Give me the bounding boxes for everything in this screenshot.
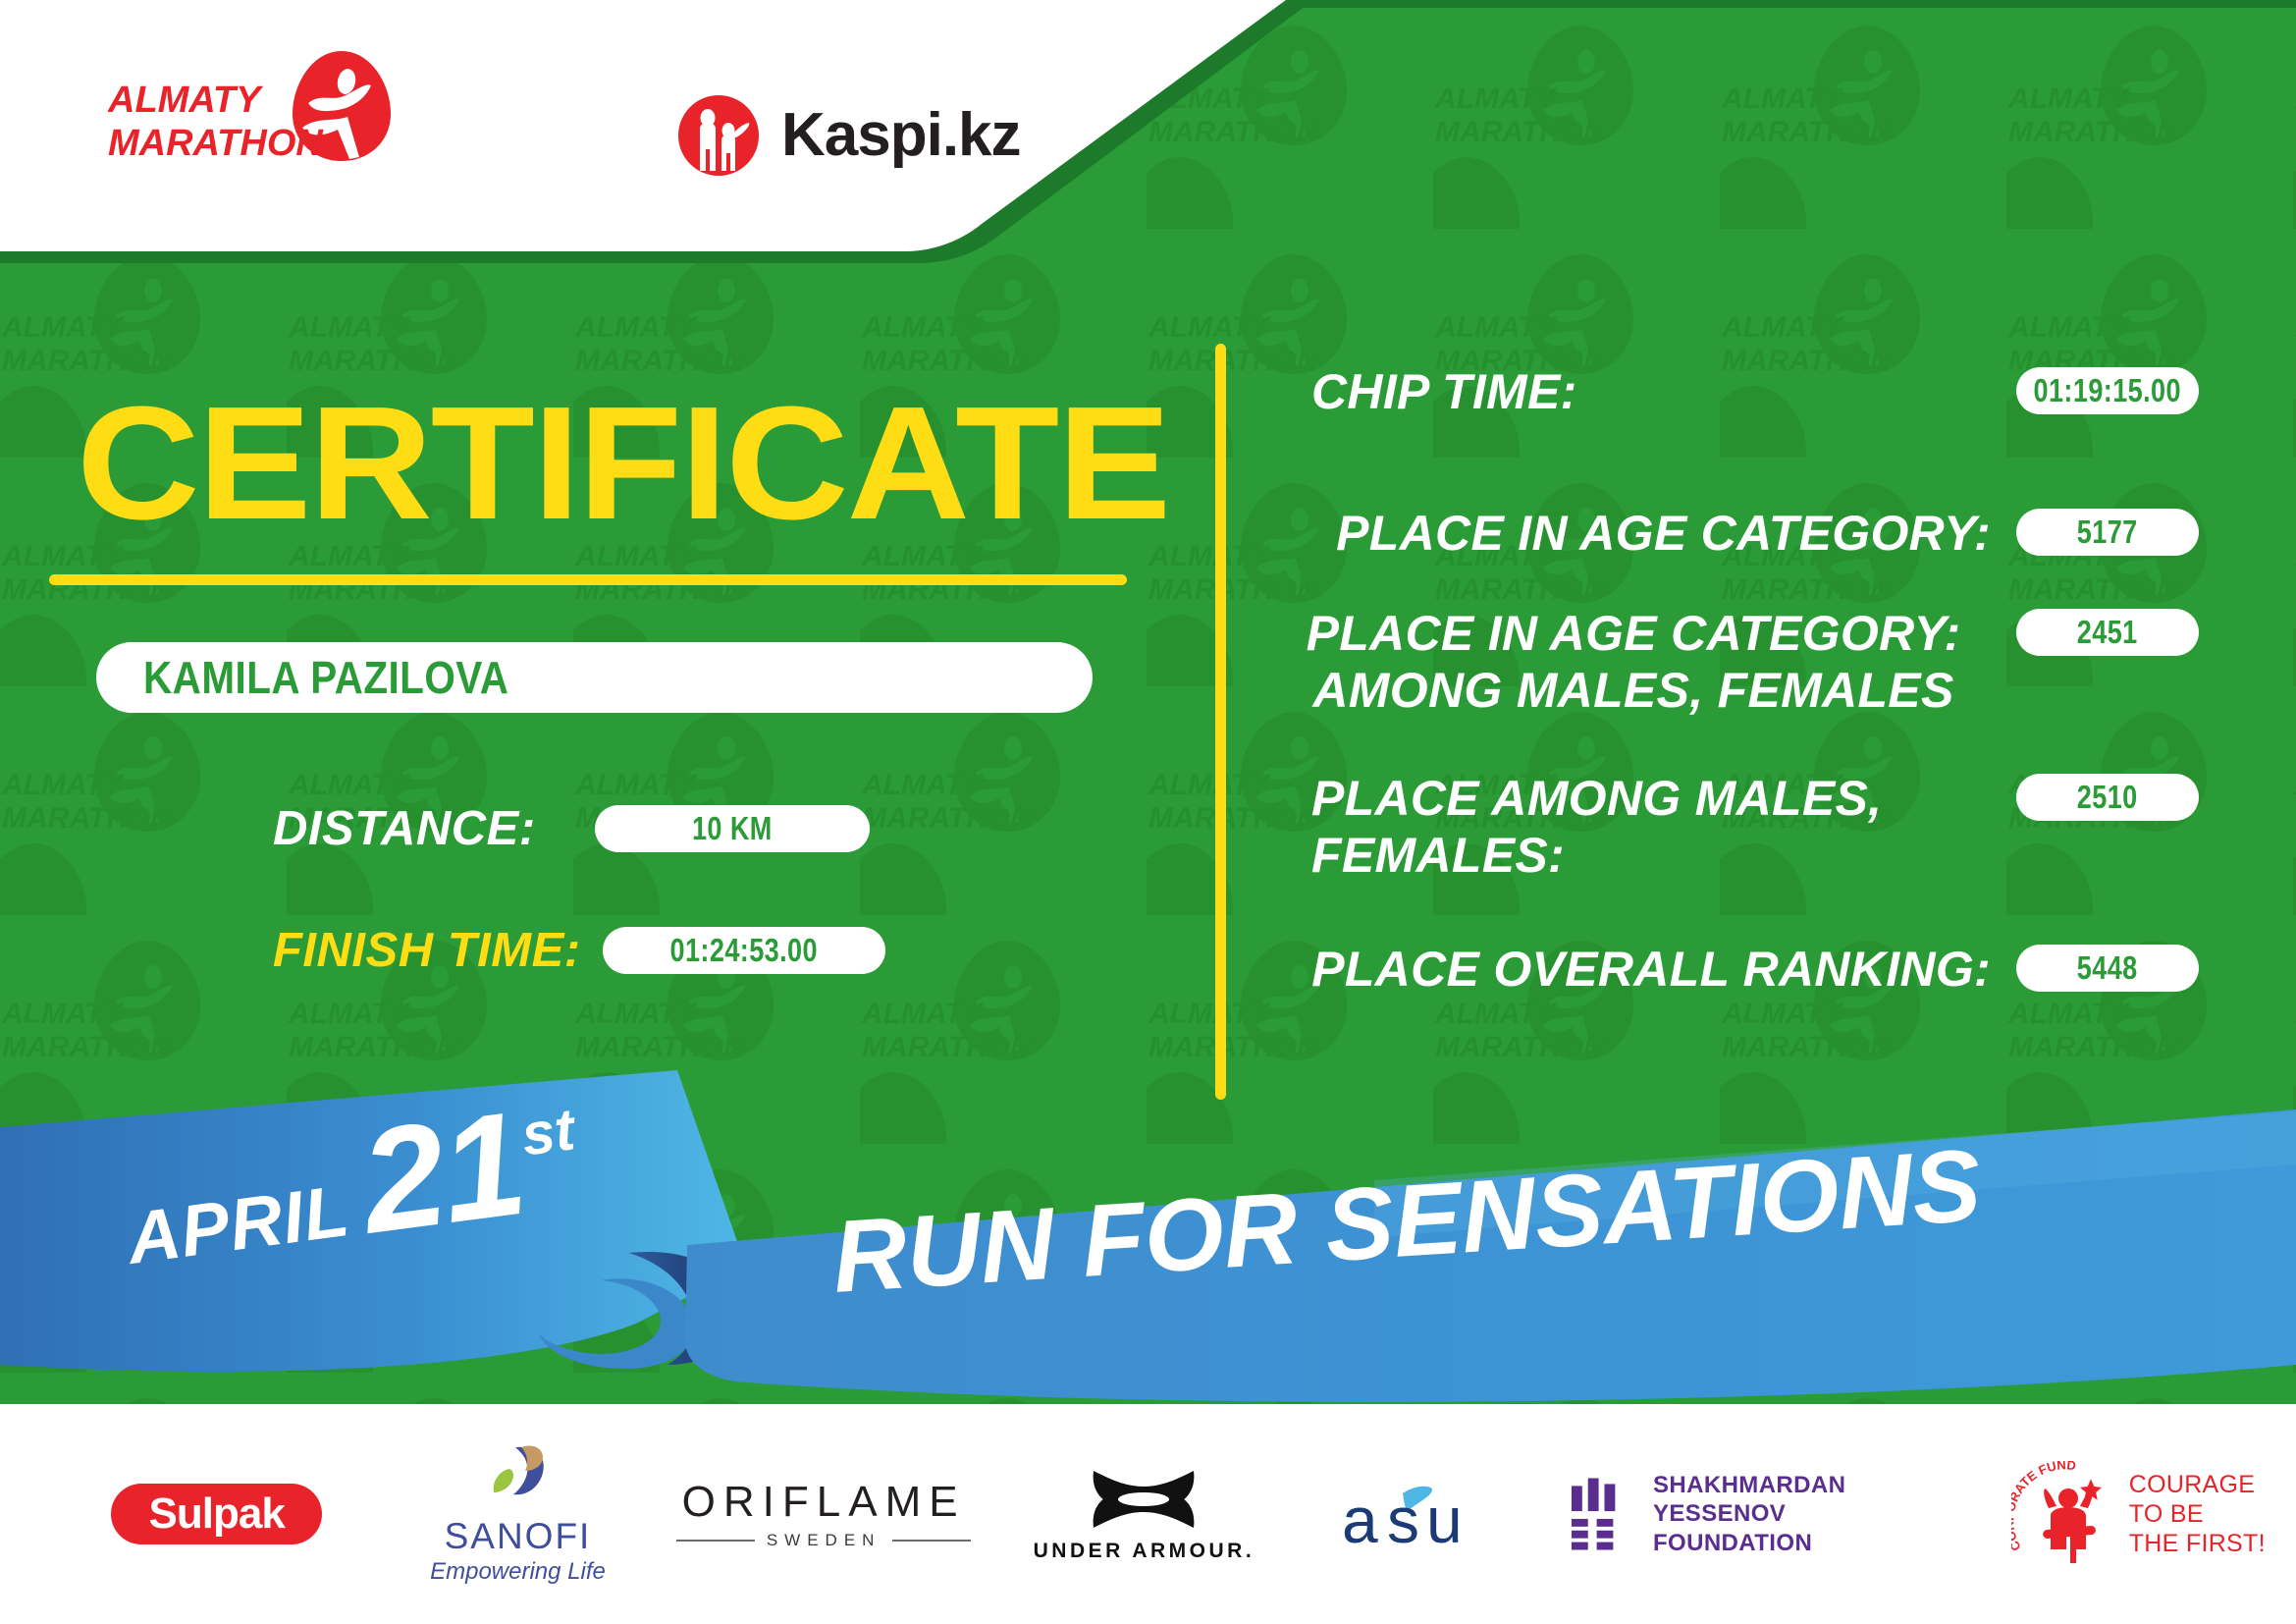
sponsor-logo-sulpak: Sulpak <box>59 1484 374 1544</box>
finish-time-value: 01:24:53.00 <box>669 932 817 969</box>
sponsor-strip: Sulpak SANOFI Empowering Life ORIFLAME S… <box>0 1404 2296 1624</box>
distance-label: DISTANCE: <box>273 801 536 856</box>
sponsor-logo-shakhmardan-yessenov-foundation: SHAKHMARDAN YESSENOV FOUNDATION <box>1570 1471 1981 1557</box>
yessenov-bars-icon <box>1570 1474 1628 1554</box>
vertical-yellow-divider <box>1215 344 1226 1100</box>
sulpak-pill: Sulpak <box>111 1484 322 1544</box>
divider-left <box>676 1540 755 1542</box>
sanofi-mark-icon <box>470 1443 564 1514</box>
runner-name-value: KAMILA PAZILOVA <box>143 651 508 704</box>
label-line-1: PLACE AMONG MALES, <box>1311 770 1991 827</box>
sanofi-tagline: Empowering Life <box>430 1558 606 1586</box>
place-overall-ranking-label: PLACE OVERALL RANKING: <box>1276 941 2016 998</box>
runner-name-field: KAMILA PAZILOVA <box>96 642 1093 713</box>
distance-row: DISTANCE: 10 KM <box>273 801 870 856</box>
svg-text:a: a <box>1342 1484 1378 1556</box>
chip-time-row: CHIP TIME: 01:19:15.00 <box>1276 363 2199 420</box>
event-day-ordinal: st <box>517 1095 578 1168</box>
almaty-marathon-logo: ALMATY MARATHON <box>108 47 393 165</box>
chip-time-value-pill: 01:19:15.00 <box>2016 367 2199 414</box>
place-age-category-gender-value-pill: 2451 <box>2016 609 2199 656</box>
place-among-gender-label: PLACE AMONG MALES, FEMALES: <box>1276 770 2016 884</box>
corporate-fund-line-3: THE FIRST! <box>2129 1529 2266 1558</box>
label-line-1: PLACE IN AGE CATEGORY: <box>1276 605 1991 662</box>
place-age-category-value-pill: 5177 <box>2016 509 2199 556</box>
kaspi-wordmark: Kaspi.kz <box>781 105 1021 166</box>
label-line-2: FEMALES: <box>1311 827 1991 884</box>
under-armour-wordmark: UNDER ARMOUR. <box>1034 1540 1255 1563</box>
svg-text:MARATHON: MARATHON <box>108 123 324 164</box>
oriflame-wordmark: ORIFLAME <box>682 1478 966 1527</box>
chip-time-value: 01:19:15.00 <box>2034 372 2181 409</box>
place-overall-ranking-value-pill: 5448 <box>2016 945 2199 992</box>
place-overall-ranking-value: 5448 <box>2077 949 2138 987</box>
finish-time-row: FINISH TIME: 01:24:53.00 <box>273 923 885 978</box>
sulpak-wordmark: Sulpak <box>149 1492 285 1536</box>
under-armour-mark-icon <box>1086 1465 1201 1534</box>
event-day: 21 <box>354 1095 530 1250</box>
svg-text:s: s <box>1387 1484 1419 1556</box>
title-underline-rule <box>49 574 1127 585</box>
distance-value-pill: 10 KM <box>595 805 870 852</box>
sponsor-logo-oriflame: ORIFLAME SWEDEN <box>662 1478 987 1550</box>
sponsor-logo-corporate-fund: CORPORATE FUND COURAGE TO BE THE FIRST! <box>1981 1461 2296 1567</box>
svg-text:ALMATY: ALMATY <box>108 80 264 121</box>
certificate-canvas: ALMATY MARATHON <box>0 0 2296 1624</box>
chip-time-label: CHIP TIME: <box>1276 363 2016 420</box>
oriflame-tagline: SWEDEN <box>767 1531 881 1550</box>
sanofi-wordmark: SANOFI <box>445 1516 592 1557</box>
results-stats-list: CHIP TIME: 01:19:15.00 PLACE IN AGE CATE… <box>1276 363 2199 998</box>
place-overall-ranking-row: PLACE OVERALL RANKING: 5448 <box>1276 941 2199 998</box>
place-age-category-gender-label: PLACE IN AGE CATEGORY: AMONG MALES, FEMA… <box>1276 605 2016 719</box>
sponsor-logo-under-armour: UNDER ARMOUR. <box>987 1465 1302 1563</box>
asu-wordmark-icon: a s u <box>1342 1472 1528 1556</box>
corporate-fund-line-1: COURAGE <box>2129 1470 2266 1499</box>
place-among-gender-value: 2510 <box>2077 779 2138 816</box>
place-age-category-label: PLACE IN AGE CATEGORY: <box>1276 505 2016 562</box>
place-age-category-value: 5177 <box>2077 514 2138 551</box>
oriflame-tagline-row: SWEDEN <box>676 1531 971 1550</box>
place-age-category-gender-row: PLACE IN AGE CATEGORY: AMONG MALES, FEMA… <box>1276 605 2199 719</box>
yessenov-wordmark-line-1: SHAKHMARDAN YESSENOV <box>1653 1471 1981 1529</box>
place-age-category-row: PLACE IN AGE CATEGORY: 5177 <box>1276 505 2199 562</box>
label-line-2: AMONG MALES, FEMALES <box>1276 662 1991 719</box>
divider-right <box>892 1540 971 1542</box>
sponsor-logo-sanofi: SANOFI Empowering Life <box>374 1443 661 1586</box>
yessenov-wordmark-line-2: FOUNDATION <box>1653 1529 1981 1557</box>
two-people-circle-icon <box>677 94 760 177</box>
sponsor-logo-asu: a s u <box>1302 1472 1570 1556</box>
distance-value: 10 KM <box>692 810 773 847</box>
place-age-category-gender-value: 2451 <box>2077 614 2138 651</box>
finish-time-label: FINISH TIME: <box>273 923 581 978</box>
kaspi-logo: Kaspi.kz <box>677 93 1021 178</box>
finish-time-value-pill: 01:24:53.00 <box>603 927 885 974</box>
corporate-fund-line-2: TO BE <box>2129 1499 2266 1529</box>
place-among-gender-row: PLACE AMONG MALES, FEMALES: 2510 <box>1276 770 2199 884</box>
corporate-fund-person-icon: CORPORATE FUND <box>2011 1461 2119 1567</box>
svg-text:u: u <box>1426 1484 1463 1556</box>
page-title: CERTIFICATE <box>77 383 1169 544</box>
place-among-gender-value-pill: 2510 <box>2016 774 2199 821</box>
